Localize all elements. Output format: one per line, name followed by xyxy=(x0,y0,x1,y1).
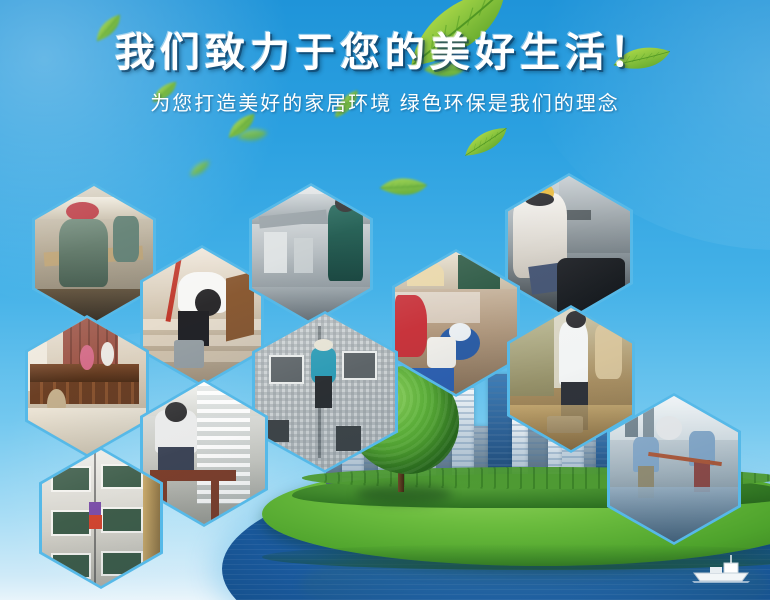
hex-ceiling-duct-sheen xyxy=(252,186,370,322)
hex-handrail-painting[interactable] xyxy=(28,318,146,454)
hex-demolition-worker-sheen xyxy=(35,186,153,322)
hex-handrail-painting-sheen xyxy=(28,318,146,454)
page-title: 我们致力于您的美好生活！ xyxy=(0,32,770,74)
hex-kitchen-hood-sheen xyxy=(508,176,630,318)
banner-text-block: 我们致力于您的美好生活！ 为您打造美好的家居环境 绿色环保是我们的理念 xyxy=(0,32,770,116)
hex-demolition-worker[interactable] xyxy=(35,186,153,322)
hex-kitchen-hood[interactable] xyxy=(508,176,630,318)
hex-carpet-machine-sheen xyxy=(395,252,517,394)
page-subtitle: 为您打造美好的家居环境 绿色环保是我们的理念 xyxy=(0,87,770,116)
hex-stair-mopping-sheen xyxy=(143,248,261,384)
hex-ceiling-duct[interactable] xyxy=(252,186,370,322)
hex-facade-rope-access[interactable] xyxy=(255,314,395,470)
hex-carpet-machine[interactable] xyxy=(395,252,517,394)
hex-stair-mopping[interactable] xyxy=(143,248,261,384)
promo-banner: 我们致力于您的美好生活！ 为您打造美好的家居环境 绿色环保是我们的理念 xyxy=(0,0,770,600)
hex-facade-rope-access-sheen xyxy=(255,314,395,470)
